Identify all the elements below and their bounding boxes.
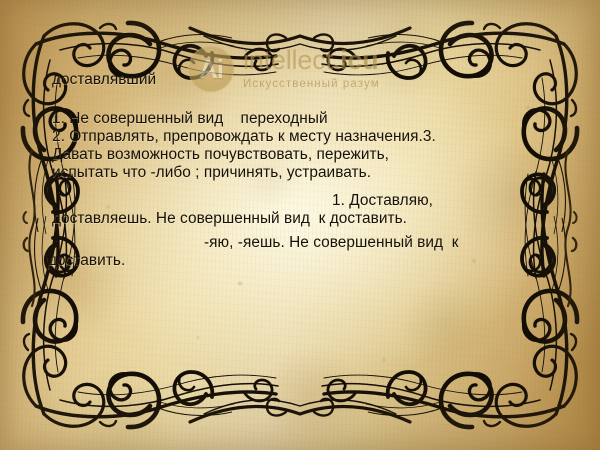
entry-line-6: доставляешь. Не совершенный вид к достав… — [52, 210, 407, 228]
entry-line-5: 1. Доставляю, — [332, 192, 433, 210]
headword: доставлявший — [52, 71, 156, 89]
entry-line-7: -яю, -яешь. Не совершенный вид к — [204, 234, 459, 252]
parchment-page: Ai intellect.icu Искусственный разум дос… — [0, 0, 600, 450]
entry-line-1: 1. Не совершенный вид переходный — [52, 110, 328, 128]
entry-line-8: доставить. — [48, 252, 125, 270]
entry-line-3: Давать возможность почувствовать, пережи… — [52, 146, 389, 164]
entry-line-2: 2. Отправлять, препровождать к месту наз… — [52, 128, 436, 146]
entry-line-4: испытать что -либо ; причинять, устраива… — [52, 164, 371, 182]
dictionary-text-block: доставлявший 1. Не совершенный вид перех… — [0, 0, 600, 450]
